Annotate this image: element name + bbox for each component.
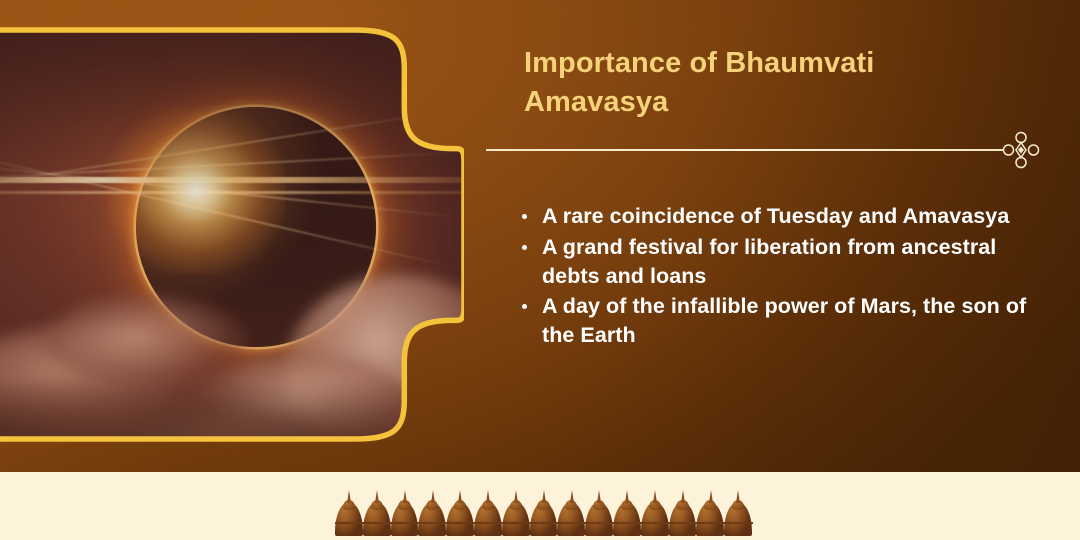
temple-dome-icon <box>724 489 752 536</box>
temple-dome-row <box>335 489 752 536</box>
temple-dome-icon <box>530 489 558 536</box>
temple-dome-baseline <box>335 522 753 524</box>
temple-dome-icon <box>391 489 419 536</box>
eclipse-photo <box>0 25 464 444</box>
temple-dome-icon <box>474 489 502 536</box>
page-title-line-1: Importance of Bhaumvati <box>524 47 874 79</box>
slide-canvas: Importance of Bhaumvati Amavasya A rare … <box>0 0 1080 540</box>
list-item: A day of the infallible power of Mars, t… <box>516 292 1036 350</box>
page-title-line-2: Amavasya <box>524 86 668 118</box>
page-title: Importance of Bhaumvati Amavasya <box>524 44 994 121</box>
title-divider <box>486 149 1004 151</box>
temple-dome-icon <box>418 489 446 536</box>
temple-dome-icon <box>363 489 391 536</box>
bullet-list: A rare coincidence of Tuesday and Amavas… <box>516 202 1036 352</box>
temple-dome-icon <box>613 489 641 536</box>
temple-dome-icon <box>335 489 363 536</box>
temple-dome-icon <box>502 489 530 536</box>
temple-dome-icon <box>669 489 697 536</box>
temple-dome-icon <box>557 489 585 536</box>
temple-dome-icon <box>696 489 724 536</box>
temple-dome-icon <box>585 489 613 536</box>
temple-dome-icon <box>446 489 474 536</box>
four-petal-knot-ornament <box>1000 129 1042 171</box>
list-item: A rare coincidence of Tuesday and Amavas… <box>516 202 1036 231</box>
sky-warm-overlay <box>0 25 464 444</box>
photo-clip <box>0 25 464 444</box>
list-item: A grand festival for liberation from anc… <box>516 233 1036 291</box>
temple-dome-icon <box>641 489 669 536</box>
